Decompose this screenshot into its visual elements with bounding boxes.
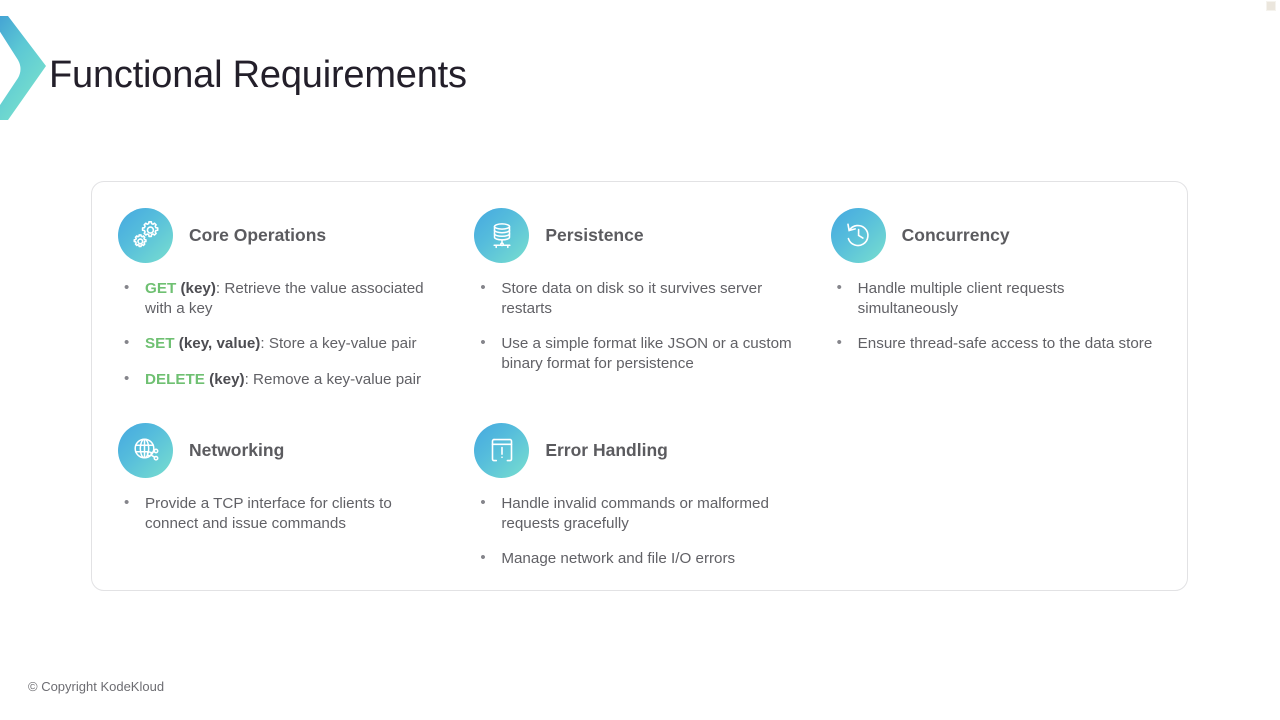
section-networking: Networking Provide a TCP interface for c… <box>118 422 474 585</box>
database-icon <box>474 208 529 263</box>
section-core-operations: Core Operations GET (key): Retrieve the … <box>118 207 474 422</box>
bullet-list: GET (key): Retrieve the value associated… <box>118 279 448 389</box>
list-item: Handle multiple client requests simultan… <box>831 279 1161 318</box>
requirements-row-top: Core Operations GET (key): Retrieve the … <box>118 207 1187 422</box>
list-item: Provide a TCP interface for clients to c… <box>118 494 448 533</box>
bullet-text: Store data on disk so it survives server… <box>501 280 762 317</box>
section-title: Error Handling <box>545 440 668 461</box>
bullet-list: Handle multiple client requests simultan… <box>831 279 1161 354</box>
slide: Functional Requirements <box>0 0 1280 720</box>
section-persistence: Persistence Store data on disk so it sur… <box>474 207 830 422</box>
gears-icon <box>118 208 173 263</box>
requirements-grid: Core Operations GET (key): Retrieve the … <box>92 182 1187 590</box>
list-item: Store data on disk so it survives server… <box>474 279 804 318</box>
corner-artifact <box>1266 1 1276 11</box>
section-title: Core Operations <box>189 225 326 246</box>
section-header: Persistence <box>474 207 804 263</box>
command-signature: (key, value) <box>175 335 261 352</box>
command-signature: (key) <box>205 371 245 388</box>
list-item: GET (key): Retrieve the value associated… <box>118 279 448 318</box>
bullet-text: Ensure thread-safe access to the data st… <box>858 335 1153 352</box>
bullet-list: Handle invalid commands or malformed req… <box>474 494 804 569</box>
section-header: Core Operations <box>118 207 448 263</box>
section-concurrency: Concurrency Handle multiple client reque… <box>831 207 1187 422</box>
list-item: Manage network and file I/O errors <box>474 549 804 569</box>
clock-rotate-icon <box>831 208 886 263</box>
list-item: Handle invalid commands or malformed req… <box>474 494 804 533</box>
bullet-list: Store data on disk so it survives server… <box>474 279 804 373</box>
bullet-text: Handle multiple client requests simultan… <box>858 280 1065 317</box>
section-header: Error Handling <box>474 422 804 478</box>
command-keyword: SET <box>145 335 175 352</box>
copyright-footer: © Copyright KodeKloud <box>28 679 164 694</box>
bullet-list: Provide a TCP interface for clients to c… <box>118 494 448 533</box>
section-title: Networking <box>189 440 284 461</box>
bullet-text: Use a simple format like JSON or a custo… <box>501 335 791 372</box>
command-keyword: GET <box>145 280 176 297</box>
list-item: SET (key, value): Store a key-value pair <box>118 334 448 354</box>
bullet-text: Manage network and file I/O errors <box>501 550 735 567</box>
bullet-text: : Remove a key-value pair <box>245 371 421 388</box>
bullet-text: : Store a key-value pair <box>260 335 416 352</box>
page-title: Functional Requirements <box>49 51 467 99</box>
list-item: Use a simple format like JSON or a custo… <box>474 334 804 373</box>
command-keyword: DELETE <box>145 371 205 388</box>
window-alert-icon <box>474 423 529 478</box>
section-header: Concurrency <box>831 207 1161 263</box>
section-header: Networking <box>118 422 448 478</box>
section-title: Concurrency <box>902 225 1010 246</box>
section-title: Persistence <box>545 225 643 246</box>
chevron-right-gradient-logo <box>0 14 50 122</box>
list-item: Ensure thread-safe access to the data st… <box>831 334 1161 354</box>
globe-network-icon <box>118 423 173 478</box>
bullet-text: Handle invalid commands or malformed req… <box>501 495 769 532</box>
requirements-card: Core Operations GET (key): Retrieve the … <box>91 181 1188 591</box>
command-signature: (key) <box>176 280 216 297</box>
section-empty-slot <box>831 422 1187 585</box>
bullet-text: Provide a TCP interface for clients to c… <box>145 495 392 532</box>
list-item: DELETE (key): Remove a key-value pair <box>118 370 448 390</box>
section-error-handling: Error Handling Handle invalid commands o… <box>474 422 830 585</box>
requirements-row-bottom: Networking Provide a TCP interface for c… <box>118 422 1187 585</box>
